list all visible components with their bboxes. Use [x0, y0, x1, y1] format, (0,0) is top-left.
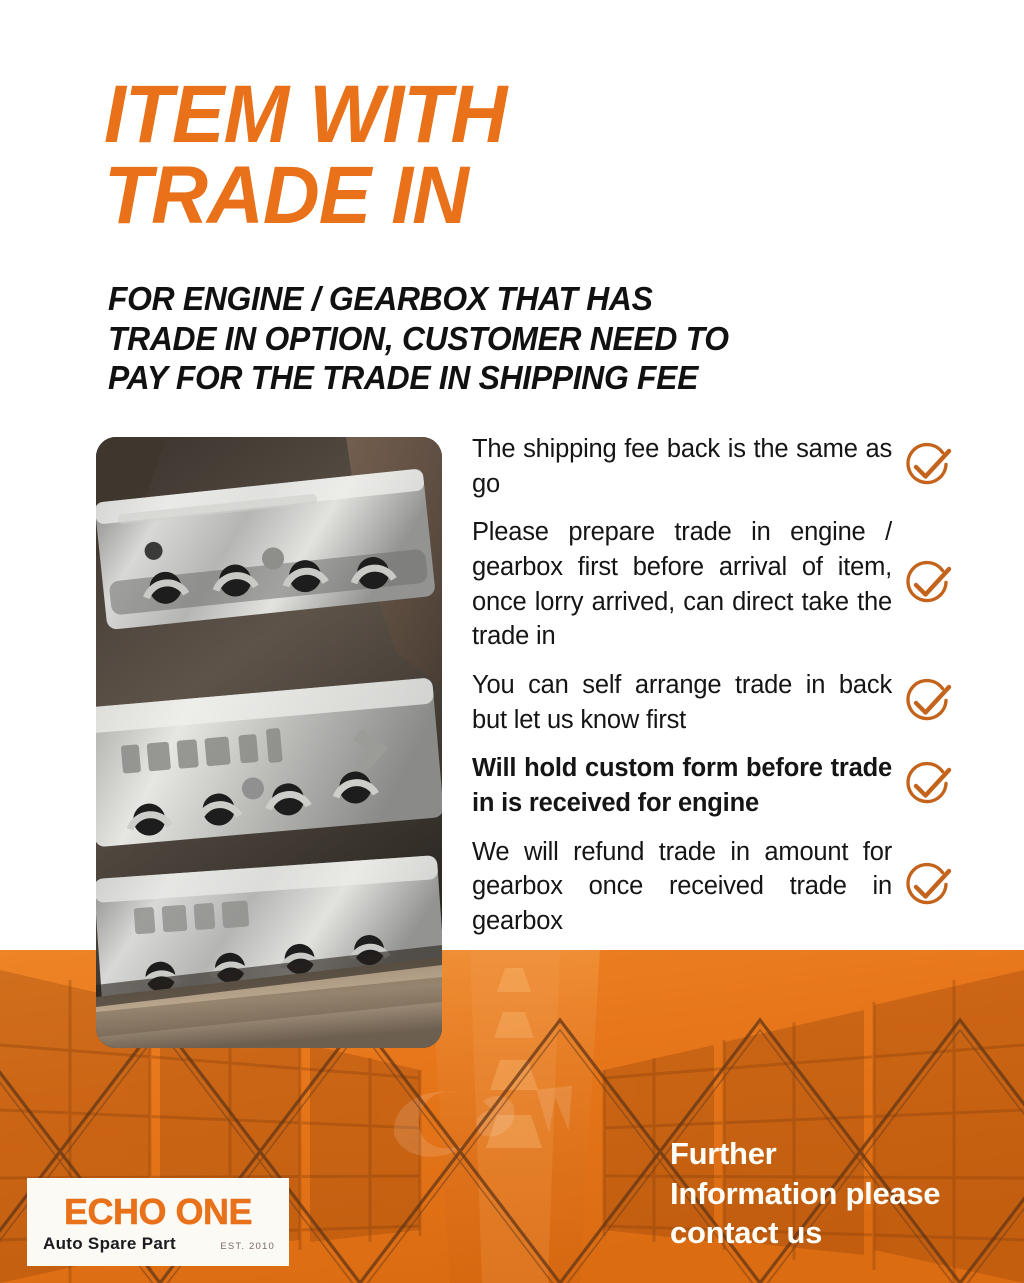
logo-company-name: ECHO ONE [27, 1194, 289, 1230]
check-circle-icon [892, 559, 964, 611]
list-item-text: Will hold custom form before trade in is… [472, 751, 892, 820]
list-item-text: The shipping fee back is the same as go [472, 432, 892, 501]
list-item: Will hold custom form before trade in is… [472, 751, 982, 820]
page-title: ITEM WITH TRADE IN [104, 74, 872, 236]
poster-canvas: ITEM WITH TRADE IN FOR ENGINE / GEARBOX … [0, 0, 1024, 1283]
list-item-text: You can self arrange trade in back but l… [472, 668, 892, 737]
engine-photo [96, 437, 442, 1048]
check-circle-icon [892, 677, 964, 729]
check-circle-icon [892, 861, 964, 913]
logo-subtitle-row: Auto Spare Part EST. 2010 [27, 1230, 289, 1252]
list-item-text: Please prepare trade in engine / gearbox… [472, 515, 892, 654]
list-item-text: We will refund trade in amount for gearb… [472, 835, 892, 939]
contact-call-to-action: Further Information please contact us [670, 1134, 1000, 1253]
engine-photo-graphic [96, 437, 442, 1048]
benefits-list: The shipping fee back is the same as go … [472, 432, 982, 953]
logo-established: EST. 2010 [220, 1242, 275, 1252]
list-item: We will refund trade in amount for gearb… [472, 835, 982, 939]
check-circle-icon [892, 760, 964, 812]
list-item: You can self arrange trade in back but l… [472, 668, 982, 737]
logo-tagline: Auto Spare Part [43, 1235, 176, 1252]
check-circle-icon [892, 441, 964, 493]
list-item: Please prepare trade in engine / gearbox… [472, 515, 982, 654]
page-subtitle: FOR ENGINE / GEARBOX THAT HAS TRADE IN O… [108, 280, 878, 399]
brand-logo: ECHO ONE Auto Spare Part EST. 2010 [27, 1178, 289, 1266]
list-item: The shipping fee back is the same as go [472, 432, 982, 501]
